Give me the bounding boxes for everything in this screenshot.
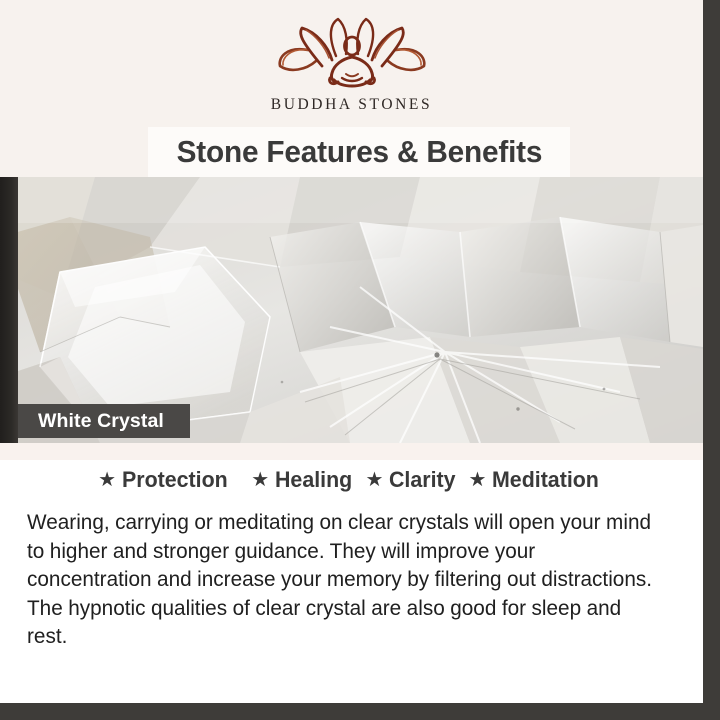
- benefit-item-meditation: ★ Meditation: [468, 467, 604, 493]
- brand-logo: BUDDHA STONES: [0, 16, 703, 114]
- page-title: Stone Features & Benefits: [176, 134, 542, 170]
- stone-name-label: White Crystal: [38, 410, 164, 433]
- benefit-item-clarity: ★ Clarity: [366, 467, 460, 493]
- info-card: BUDDHA STONES Stone Features & Benefits: [0, 0, 703, 703]
- title-banner: Stone Features & Benefits: [148, 127, 570, 177]
- header-section: BUDDHA STONES Stone Features & Benefits: [0, 0, 703, 177]
- photo-left-bevel: [0, 177, 18, 443]
- benefit-label: Protection: [122, 467, 228, 493]
- benefit-item-protection: ★ Protection: [98, 467, 233, 493]
- benefit-item-healing: ★ Healing: [251, 467, 356, 493]
- star-icon: ★: [251, 470, 269, 490]
- lotus-meditation-figure-icon: [272, 16, 432, 92]
- benefits-row: ★ Protection ★ Healing ★ Clarity ★ Medit…: [0, 467, 703, 493]
- benefit-label: Clarity: [389, 467, 456, 493]
- benefit-label: Healing: [275, 467, 352, 493]
- star-icon: ★: [468, 470, 486, 490]
- content-section: ★ Protection ★ Healing ★ Clarity ★ Medit…: [0, 460, 703, 703]
- outer-frame: BUDDHA STONES Stone Features & Benefits: [0, 0, 720, 720]
- star-icon: ★: [366, 470, 384, 490]
- stone-name-band: White Crystal: [18, 404, 190, 438]
- brand-wordmark: BUDDHA STONES: [0, 96, 703, 114]
- benefit-label: Meditation: [492, 467, 599, 493]
- stone-description: Wearing, carrying or meditating on clear…: [27, 508, 656, 651]
- cream-separator: [0, 443, 703, 460]
- star-icon: ★: [98, 470, 116, 490]
